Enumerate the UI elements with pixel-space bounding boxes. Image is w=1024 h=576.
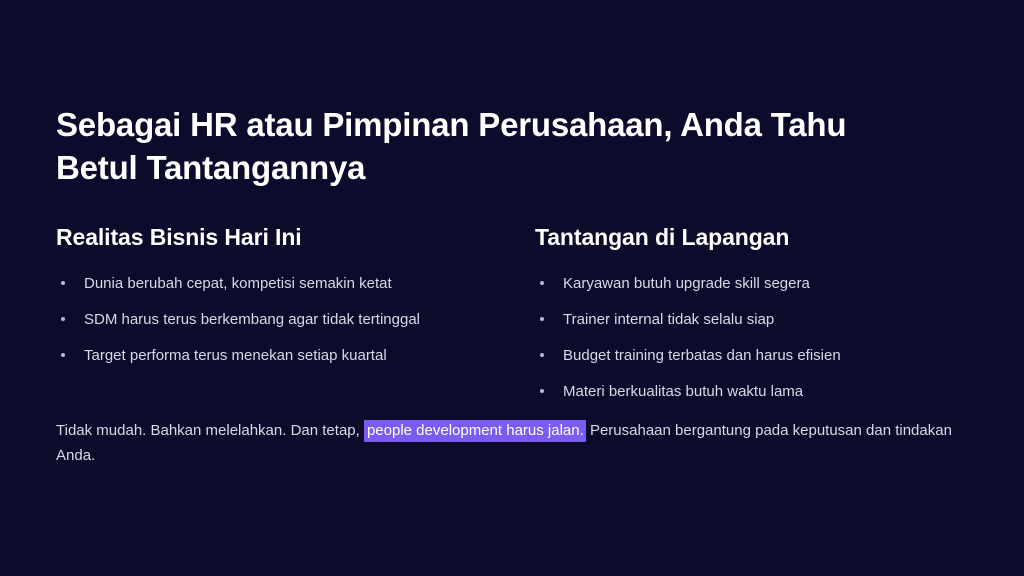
- page-title: Sebagai HR atau Pimpinan Perusahaan, And…: [56, 103, 936, 189]
- column-realitas-bisnis: Realitas Bisnis Hari Ini Dunia berubah c…: [56, 222, 535, 365]
- slide-canvas: Sebagai HR atau Pimpinan Perusahaan, And…: [0, 0, 1024, 576]
- page-title-line-2: Betul Tantangannya: [56, 146, 936, 189]
- highlighted-phrase: people development harus jalan.: [364, 420, 586, 442]
- column-heading-left: Realitas Bisnis Hari Ini: [56, 222, 535, 252]
- list-item: Budget training terbatas dan harus efisi…: [535, 346, 1014, 365]
- list-item-label: Dunia berubah cepat, kompetisi semakin k…: [84, 275, 392, 292]
- bullet-dot-icon: [540, 317, 544, 321]
- column-heading-right: Tantangan di Lapangan: [535, 222, 1014, 252]
- bullet-dot-icon: [61, 281, 65, 285]
- list-item-label: Trainer internal tidak selalu siap: [563, 311, 774, 328]
- list-item-label: Materi berkualitas butuh waktu lama: [563, 383, 803, 400]
- column-tantangan-lapangan: Tantangan di Lapangan Karyawan butuh upg…: [535, 222, 1014, 401]
- page-title-line-1: Sebagai HR atau Pimpinan Perusahaan, And…: [56, 103, 936, 146]
- list-item-label: Target performa terus menekan setiap kua…: [84, 347, 387, 364]
- list-item-label: Budget training terbatas dan harus efisi…: [563, 347, 841, 364]
- list-item-label: SDM harus terus berkembang agar tidak te…: [84, 311, 420, 328]
- bullet-list-right: Karyawan butuh upgrade skill segera Trai…: [535, 274, 1014, 401]
- list-item: SDM harus terus berkembang agar tidak te…: [56, 310, 535, 329]
- list-item: Trainer internal tidak selalu siap: [535, 310, 1014, 329]
- content-columns: Realitas Bisnis Hari Ini Dunia berubah c…: [56, 222, 968, 401]
- bullet-dot-icon: [61, 317, 65, 321]
- bullet-dot-icon: [61, 353, 65, 357]
- list-item-label: Karyawan butuh upgrade skill segera: [563, 275, 810, 292]
- list-item: Dunia berubah cepat, kompetisi semakin k…: [56, 274, 535, 293]
- slide-title-block: Sebagai HR atau Pimpinan Perusahaan, And…: [56, 103, 936, 189]
- closing-text-before: Tidak mudah. Bahkan melelahkan. Dan teta…: [56, 422, 364, 439]
- bullet-dot-icon: [540, 389, 544, 393]
- bullet-list-left: Dunia berubah cepat, kompetisi semakin k…: [56, 274, 535, 365]
- bullet-dot-icon: [540, 353, 544, 357]
- closing-paragraph: Tidak mudah. Bahkan melelahkan. Dan teta…: [56, 418, 968, 468]
- list-item: Karyawan butuh upgrade skill segera: [535, 274, 1014, 293]
- list-item: Materi berkualitas butuh waktu lama: [535, 382, 1014, 401]
- bullet-dot-icon: [540, 281, 544, 285]
- list-item: Target performa terus menekan setiap kua…: [56, 346, 535, 365]
